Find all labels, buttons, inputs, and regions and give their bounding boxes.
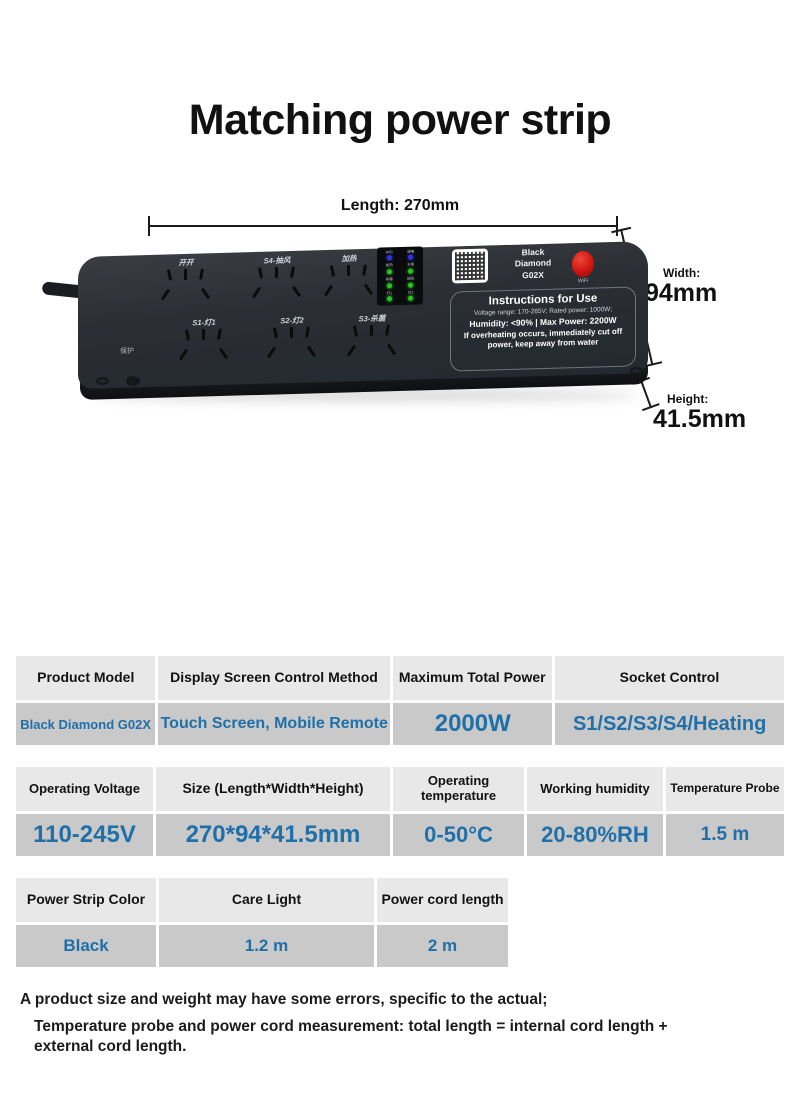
socket-pin — [385, 324, 390, 335]
table-value-row: Black Diamond G02X Touch Screen, Mobile … — [16, 703, 784, 745]
led-power-label: 通电 — [407, 250, 414, 254]
socket-pin — [258, 267, 263, 278]
footnote-1: A product size and weight may have some … — [20, 989, 720, 1011]
led-indicator-panel: WiFi 通电 加热 水泵 杀菌 抽风 — [377, 246, 423, 305]
socket-pin — [387, 344, 396, 356]
length-dimension-label: Length: 270mm — [0, 197, 800, 215]
footnote-2: Temperature probe and power cord measure… — [34, 1017, 720, 1056]
socket-5: S2-灯2 — [258, 314, 326, 362]
socket-pin — [290, 266, 295, 277]
led-heating-icon — [387, 269, 392, 274]
header-power-strip-color: Power Strip Color — [16, 878, 156, 922]
value-power-strip-color: Black — [16, 925, 156, 967]
header-operating-temperature: Operating temperature — [393, 767, 524, 811]
led-fan-label: 抽风 — [407, 278, 414, 282]
value-care-light: 1.2 m — [159, 925, 374, 967]
socket-pin — [364, 284, 373, 296]
socket-pin — [167, 269, 172, 280]
specification-tables: Product Model Display Screen Control Met… — [16, 656, 784, 989]
value-product-model: Black Diamond G02X — [16, 703, 155, 745]
led-wifi-icon — [387, 255, 392, 260]
socket-6-label: S3-杀菌 — [338, 312, 406, 325]
socket-3: 加热 — [315, 252, 383, 300]
header-size: Size (Length*Width*Height) — [156, 767, 390, 811]
guard-label: 保护 — [120, 346, 134, 356]
socket-pin — [370, 325, 373, 336]
led-pump: 水泵 — [401, 262, 422, 275]
value-socket-control: S1/S2/S3/S4/Heating — [555, 703, 784, 745]
header-operating-voltage: Operating Voltage — [16, 767, 153, 811]
led-light2-icon — [408, 296, 413, 301]
table-header-row: Product Model Display Screen Control Met… — [16, 656, 784, 700]
socket-pin — [179, 349, 188, 361]
socket-pin — [273, 327, 278, 338]
header-temperature-probe: Temperature Probe — [666, 767, 784, 811]
footnotes: A product size and weight may have some … — [20, 989, 720, 1056]
socket-pin — [217, 328, 222, 339]
table-value-row: Black 1.2 m 2 m — [16, 925, 784, 967]
led-light1: 灯1 — [379, 290, 400, 303]
socket-pin — [202, 329, 205, 340]
value-size: 270*94*41.5mm — [156, 814, 390, 856]
socket-pin — [353, 325, 358, 336]
socket-pin — [330, 265, 335, 276]
header-care-light: Care Light — [159, 878, 374, 922]
mounting-hole-right — [630, 367, 643, 375]
led-light2: 灯2 — [401, 290, 422, 303]
socket-pin — [347, 265, 350, 276]
product-illustration: Length: 270mm Width: 94mm Height: 41.5mm… — [0, 197, 800, 477]
spec-table-2: Operating Voltage Size (Length*Width*Hei… — [16, 767, 784, 856]
socket-pin — [307, 346, 316, 358]
led-wifi: WiFi — [379, 249, 400, 262]
socket-pin — [290, 327, 293, 338]
led-sterilize: 杀菌 — [379, 277, 400, 290]
wifi-button-label: WiFi — [572, 278, 594, 285]
length-dimension-line — [148, 225, 618, 227]
socket-pin — [199, 268, 204, 279]
led-heating-label: 加热 — [386, 265, 393, 269]
led-light1-label: 灯1 — [386, 292, 392, 296]
socket-2: S4-抽风 — [243, 254, 311, 302]
socket-pin — [305, 326, 310, 337]
socket-pin — [184, 269, 187, 280]
socket-pin — [185, 329, 190, 340]
socket-4: S1-灯1 — [170, 316, 238, 364]
spec-table-1: Product Model Display Screen Control Met… — [16, 656, 784, 745]
value-working-humidity: 20-80%RH — [527, 814, 663, 856]
led-power-icon — [408, 255, 413, 260]
socket-pin — [161, 289, 170, 301]
value-operating-voltage: 110-245V — [16, 814, 153, 856]
socket-pin — [362, 264, 367, 275]
led-light1-icon — [387, 297, 392, 302]
page-title: Matching power strip — [0, 96, 800, 145]
socket-5-label: S2-灯2 — [258, 314, 326, 327]
header-power-cord-length: Power cord length — [377, 878, 508, 922]
led-light2-label: 灯2 — [408, 291, 414, 295]
instructions-line-3: If overheating occurs, immediately cut o… — [457, 327, 629, 352]
header-display-control: Display Screen Control Method — [158, 656, 389, 700]
value-power-cord-length: 2 m — [377, 925, 508, 967]
device-brand-label: Black Diamond G02X — [498, 246, 568, 282]
socket-pin — [201, 288, 210, 300]
socket-pin — [267, 347, 276, 359]
value-display-control: Touch Screen, Mobile Remote — [158, 703, 390, 745]
header-max-total-power: Maximum Total Power — [393, 656, 552, 700]
table-value-row: 110-245V 270*94*41.5mm 0-50°C 20-80%RH 1… — [16, 814, 784, 856]
socket-1-label: 开开 — [152, 256, 220, 269]
socket-6: S3-杀菌 — [338, 312, 406, 360]
socket-pin — [219, 348, 228, 360]
led-sterilize-label: 杀菌 — [386, 278, 393, 282]
table-header-row: Power Strip Color Care Light Power cord … — [16, 878, 784, 922]
socket-4-label: S1-灯1 — [170, 316, 238, 329]
socket-pin — [347, 345, 356, 357]
led-fan: 抽风 — [401, 276, 422, 289]
brand-line-3: G02X — [498, 269, 568, 282]
spec-table-3: Power Strip Color Care Light Power cord … — [16, 878, 784, 967]
led-wifi-label: WiFi — [386, 251, 393, 255]
socket-2-label: S4-抽风 — [243, 254, 311, 267]
value-operating-temperature: 0-50°C — [393, 814, 524, 856]
power-strip-device: 保护 开开 S4-抽风 加热 S1-灯1 — [0, 229, 800, 469]
rubber-foot — [126, 376, 140, 386]
header-working-humidity: Working humidity — [527, 767, 663, 811]
led-pump-label: 水泵 — [407, 264, 414, 268]
socket-pin — [292, 286, 301, 298]
mounting-hole-left — [96, 377, 109, 385]
qr-code — [452, 248, 488, 283]
led-heating: 加热 — [379, 263, 400, 276]
value-max-total-power: 2000W — [393, 703, 552, 745]
value-temperature-probe: 1.5 m — [666, 814, 784, 856]
socket-pin — [324, 285, 333, 297]
led-pump-icon — [408, 269, 413, 274]
instructions-plate: Instructions for Use Voltage range: 170-… — [450, 286, 636, 371]
socket-3-label: 加热 — [315, 252, 383, 265]
header-socket-control: Socket Control — [555, 656, 784, 700]
socket-pin — [252, 287, 261, 299]
led-power: 通电 — [401, 248, 422, 261]
header-product-model: Product Model — [16, 656, 155, 700]
socket-pin — [275, 267, 278, 278]
socket-1: 开开 — [152, 256, 220, 304]
led-fan-icon — [408, 282, 413, 287]
led-sterilize-icon — [387, 283, 392, 288]
qr-code-pattern — [455, 252, 485, 281]
table-header-row: Operating Voltage Size (Length*Width*Hei… — [16, 767, 784, 811]
